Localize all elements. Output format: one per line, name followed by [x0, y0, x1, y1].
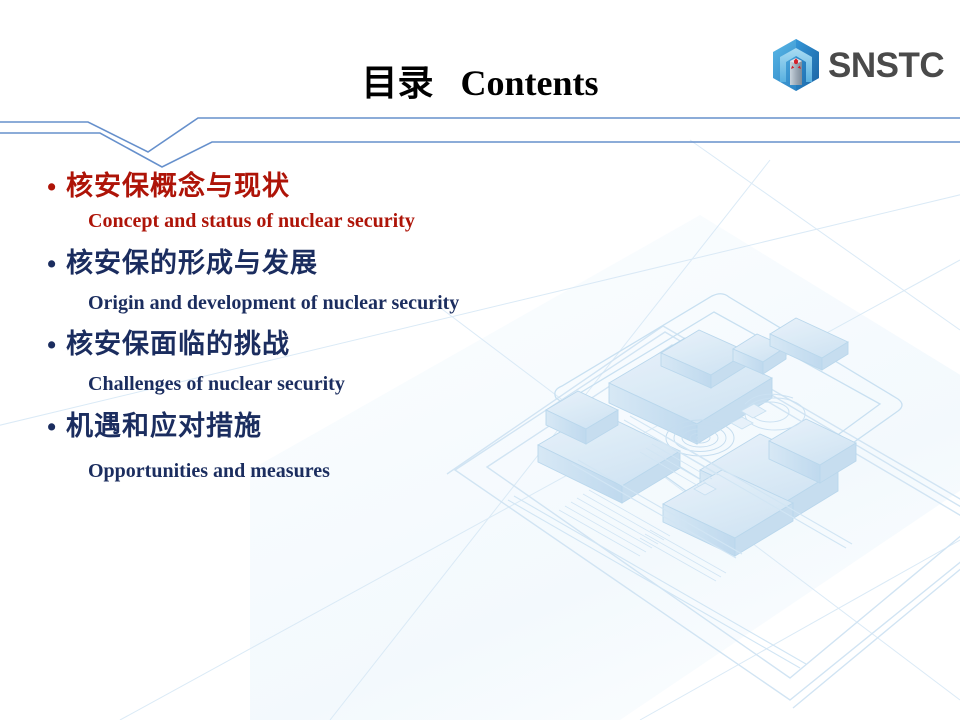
snstc-logo: SNSTC: [768, 36, 948, 94]
toc-item-3[interactable]: • 核安保面临的挑战 Challenges of nuclear securit…: [0, 326, 700, 400]
toc-item-1-title-cn: 核安保概念与现状: [66, 168, 290, 204]
toc-item-3-title-en: Challenges of nuclear security: [88, 369, 700, 399]
bullet-icon: •: [0, 171, 66, 205]
table-of-contents: • 核安保概念与现状 Concept and status of nuclear…: [0, 168, 700, 486]
bullet-icon: •: [0, 248, 66, 282]
presentation-slide: SNSTC 目录 Contents • 核安保概念与现状 Concept and…: [0, 0, 960, 720]
toc-item-2-title-en: Origin and development of nuclear securi…: [88, 288, 700, 318]
bullet-icon: •: [0, 329, 66, 363]
toc-item-2-main: • 核安保的形成与发展: [0, 245, 700, 282]
toc-item-3-title-cn: 核安保面临的挑战: [66, 326, 290, 362]
toc-item-1-title-en: Concept and status of nuclear security: [88, 206, 700, 236]
snstc-logo-text: SNSTC: [828, 48, 944, 83]
toc-item-1[interactable]: • 核安保概念与现状 Concept and status of nuclear…: [0, 168, 700, 236]
snstc-logo-mark-icon: [768, 37, 824, 93]
bullet-icon: •: [0, 411, 66, 445]
toc-item-4-title-en: Opportunities and measures: [88, 456, 700, 486]
toc-item-3-main: • 核安保面临的挑战: [0, 326, 700, 363]
toc-item-4[interactable]: • 机遇和应对措施 Opportunities and measures: [0, 408, 700, 486]
toc-item-4-main: • 机遇和应对措施: [0, 408, 700, 445]
toc-item-2[interactable]: • 核安保的形成与发展 Origin and development of nu…: [0, 245, 700, 318]
chevron-divider: [0, 95, 960, 170]
toc-item-4-title-cn: 机遇和应对措施: [66, 408, 262, 444]
toc-item-1-main: • 核安保概念与现状: [0, 168, 700, 205]
toc-item-2-title-cn: 核安保的形成与发展: [66, 245, 318, 281]
